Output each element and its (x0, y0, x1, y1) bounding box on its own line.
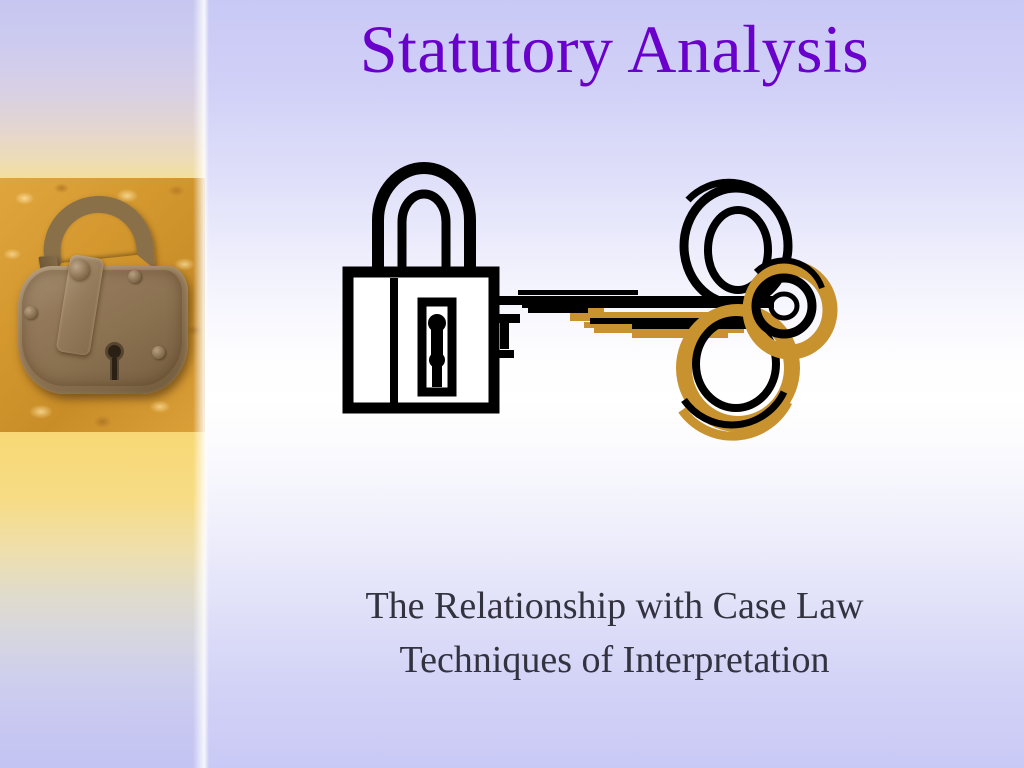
key-bow-upper-ring (684, 182, 788, 304)
rusty-open-padlock-photo (0, 178, 205, 432)
padlock-rivet (24, 306, 37, 319)
padlock-rivet (152, 346, 165, 359)
subtitle-line-2: Techniques of Interpretation (205, 634, 1024, 688)
subtitle-line-1: The Relationship with Case Law (205, 580, 1024, 634)
slide-canvas: Statutory Analysis (0, 0, 1024, 768)
padlock-keyhole-slot (110, 358, 119, 380)
page-title: Statutory Analysis (205, 12, 1024, 87)
padlock-body (18, 266, 188, 394)
padlock-rivet (128, 270, 141, 283)
clipart-group (348, 168, 830, 436)
page-subtitle: The Relationship with Case Law Technique… (205, 580, 1024, 688)
padlock-and-key-clipart (332, 160, 852, 450)
padlock-clipart (348, 168, 494, 408)
padlock-plate-boss (69, 260, 89, 280)
